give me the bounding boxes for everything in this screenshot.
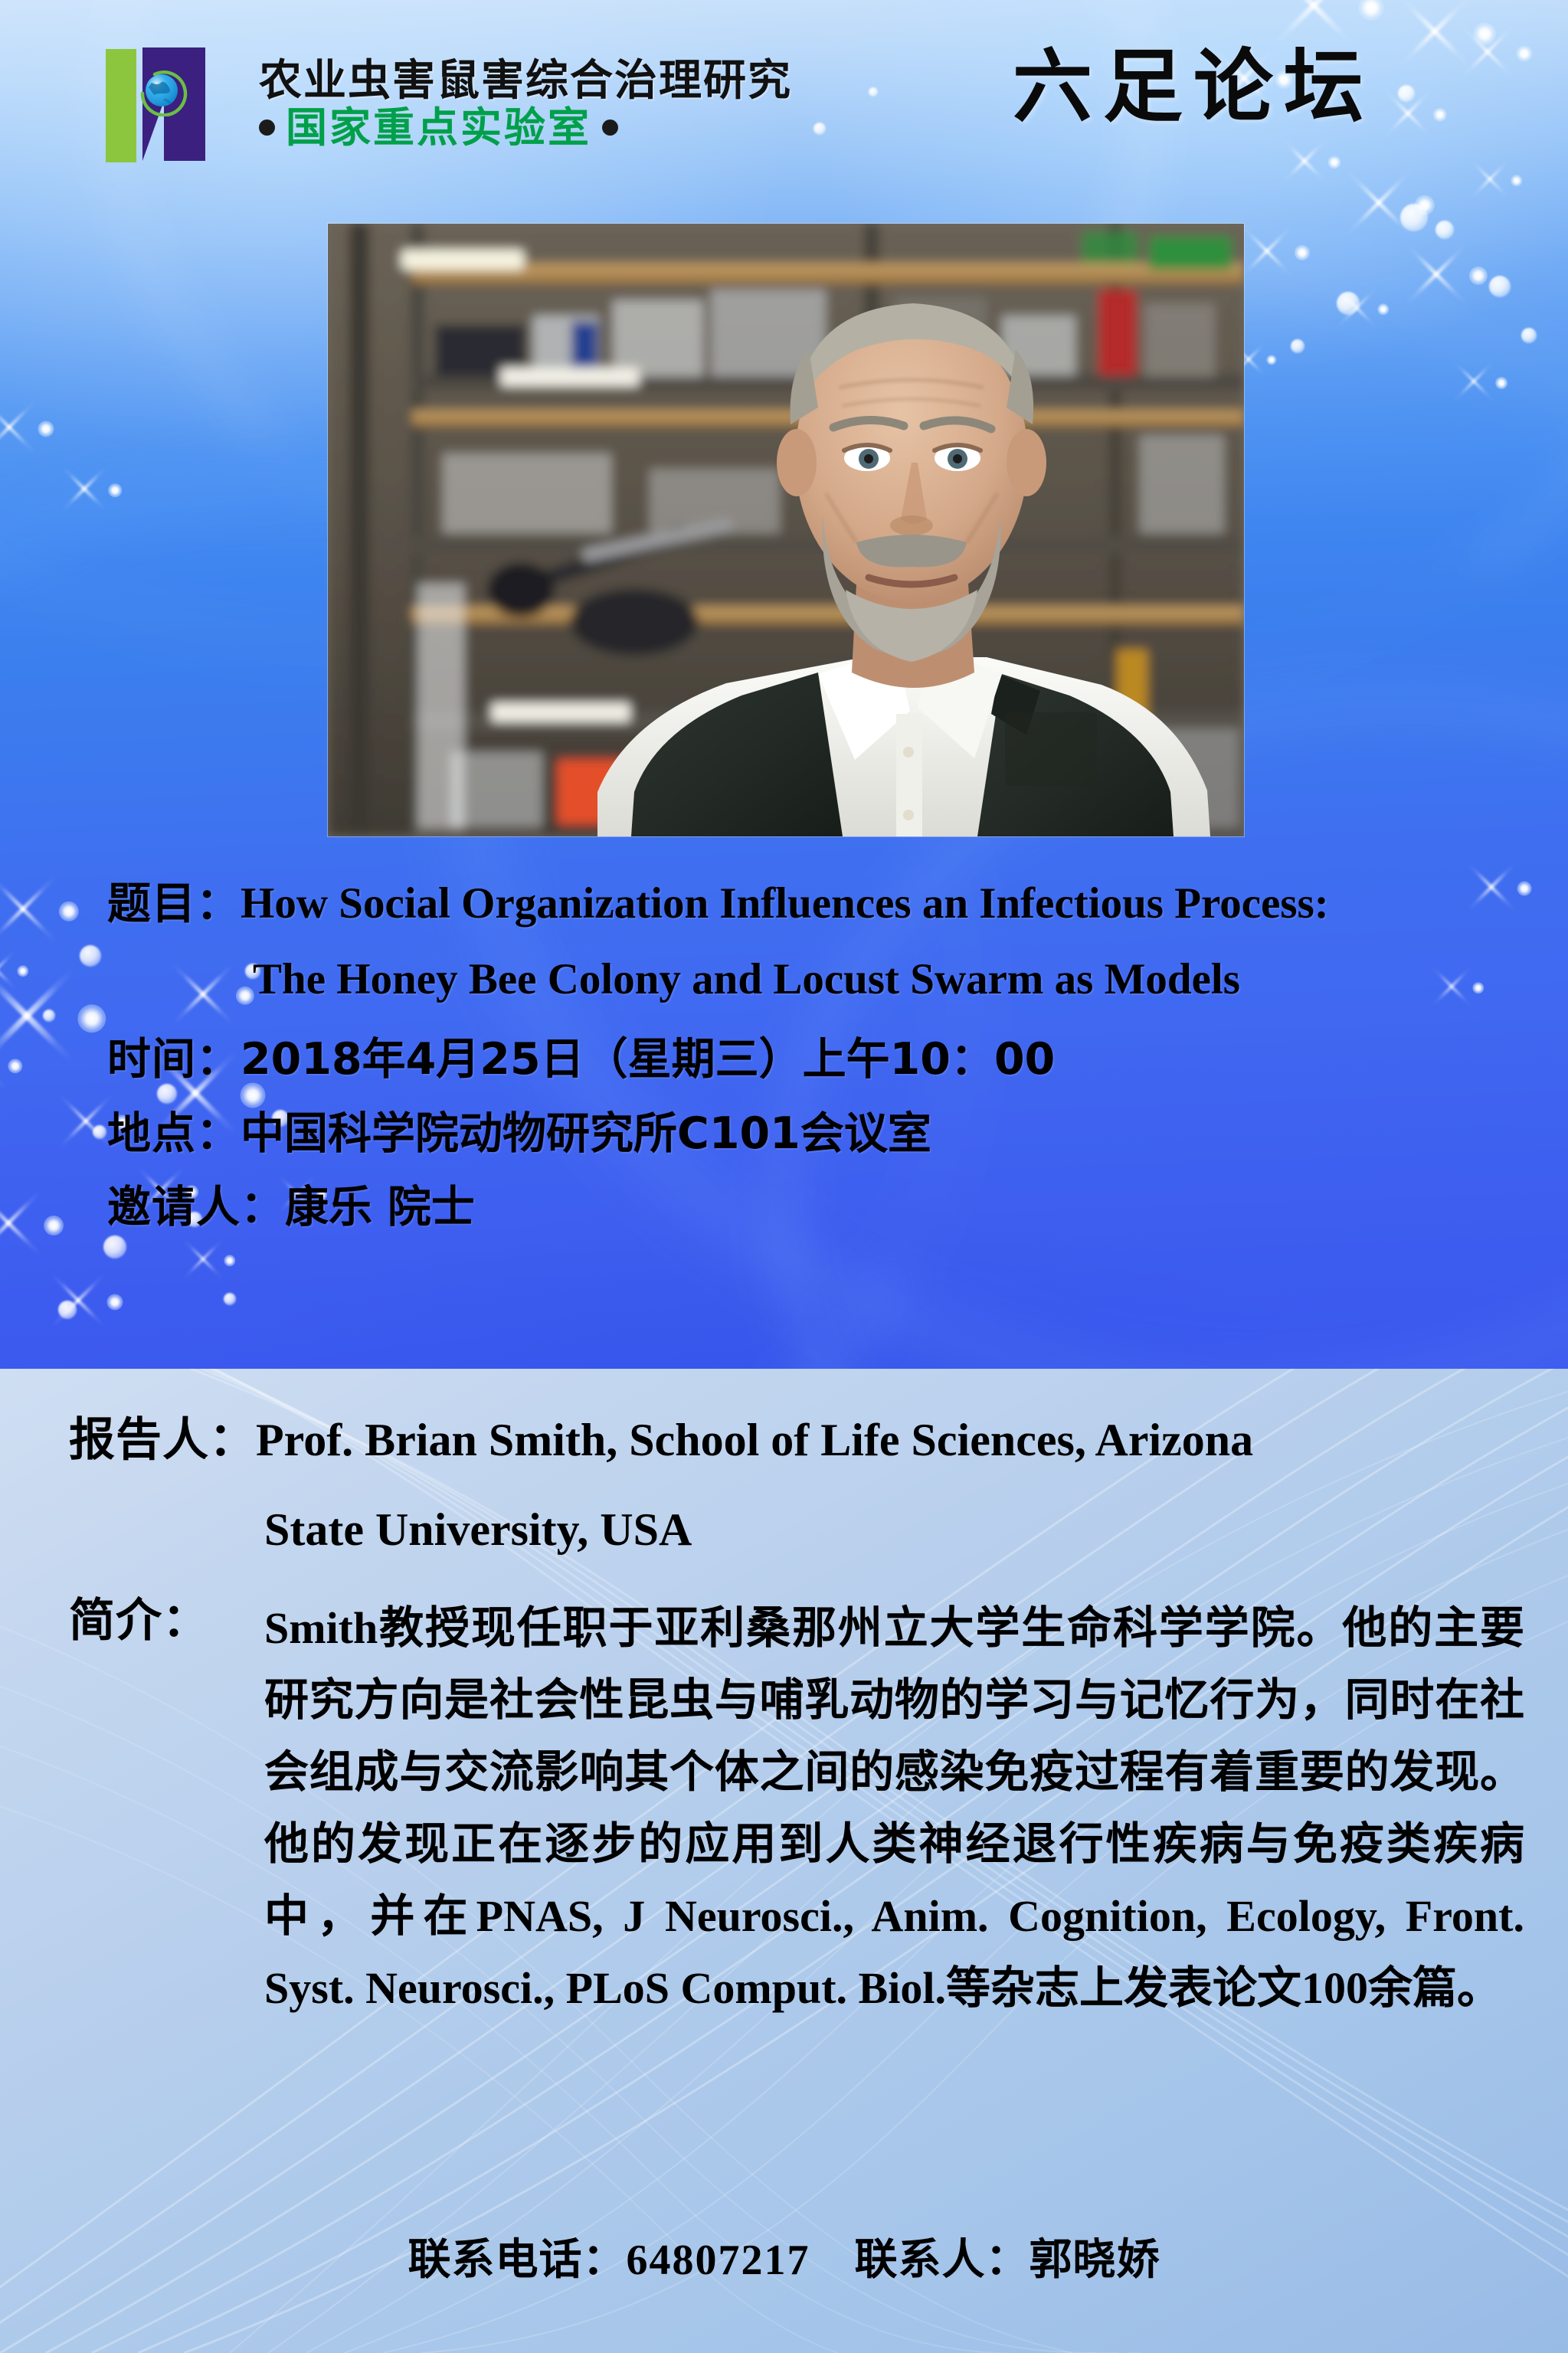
speaker-label: 报告人： <box>69 1415 256 1466</box>
seminar-title-line2: The Honey Bee Colony and Locust Swarm as… <box>0 954 1568 1004</box>
bokeh-dot-icon <box>224 1293 236 1305</box>
sparkle-star-icon <box>1474 355 1529 411</box>
bullet-dot-left-icon <box>259 119 275 136</box>
seminar-time-label: 时间： <box>107 1036 241 1082</box>
lab-name-line2-row: 国家重点实验室 <box>259 106 792 149</box>
poster-header: 农业虫害鼠害综合治理研究 国家重点实验室 六足论坛 <box>0 0 1568 191</box>
contact-phone-value: 64807217 <box>627 2237 810 2284</box>
speaker-name-line1: Prof. Brian Smith, School of Life Scienc… <box>256 1415 1253 1466</box>
sparkle-star-icon <box>1267 218 1337 288</box>
bokeh-dot-icon <box>1489 276 1511 297</box>
bio-block: 简介： Smith教授现任职于亚利桑那州立大学生命科学学院。他的主要研究方向是社… <box>69 1592 1524 2024</box>
sparkle-star-icon <box>9 392 83 466</box>
bokeh-dot-icon <box>1400 204 1428 231</box>
lab-name-line2: 国家重点实验室 <box>286 106 591 149</box>
contact-person-value: 郭晓娇 <box>1030 2235 1160 2285</box>
bokeh-dot-icon <box>1337 292 1360 315</box>
bullet-dot-right-icon <box>602 119 618 136</box>
seminar-place-label: 地点： <box>107 1111 241 1157</box>
contact-row: 联系电话：64807217联系人：郭晓娇 <box>0 2225 1568 2287</box>
poster-lower-light-background: 报告人： Prof. Brian Smith, School of Life S… <box>0 1369 1568 2353</box>
speaker-name-line2: State University, USA <box>264 1504 692 1556</box>
bokeh-dot-icon <box>1435 221 1454 239</box>
bio-label: 简介： <box>69 1592 264 1650</box>
bokeh-dot-icon <box>1521 328 1537 343</box>
lab-logo-text: 农业虫害鼠害综合治理研究 国家重点实验室 <box>259 58 792 149</box>
contact-phone-label: 联系电话： <box>408 2235 627 2285</box>
sparkle-star-icon <box>84 460 146 521</box>
sparkle-star-icon <box>1357 283 1410 336</box>
seminar-inviter-label: 邀请人： <box>107 1184 285 1230</box>
seminar-title-label: 题目： <box>107 881 241 927</box>
bokeh-dot-icon <box>1291 339 1304 353</box>
speaker-photo-image <box>328 224 1244 836</box>
seminar-time-value: 2018年4月25日（星期三）上午10：00 <box>241 1036 1055 1082</box>
sparkle-star-icon <box>78 1265 152 1339</box>
seminar-inviter-row: 邀请人： 康乐 院士 <box>0 1184 1568 1230</box>
seminar-poster: 农业虫害鼠害综合治理研究 国家重点实验室 六足论坛 <box>0 0 1568 2353</box>
bokeh-dot-icon <box>103 1235 126 1258</box>
globe-icon <box>138 66 188 116</box>
speaker-row: 报告人： Prof. Brian Smith, School of Life S… <box>69 1415 1253 1466</box>
seminar-place-row: 地点： 中国科学院动物研究所C101会议室 <box>0 1111 1568 1157</box>
sparkle-star-icon <box>203 1234 257 1288</box>
sparkle-star-icon <box>1249 337 1295 383</box>
lab-logo: 农业虫害鼠害综合治理研究 国家重点实验室 <box>98 44 792 163</box>
speaker-photo <box>328 224 1244 836</box>
lab-logo-mark-icon <box>98 44 244 163</box>
seminar-title-row: 题目： How Social Organization Influences a… <box>0 881 1568 927</box>
lab-name-line1: 农业虫害鼠害综合治理研究 <box>259 58 792 103</box>
forum-title: 六足论坛 <box>1013 21 1374 137</box>
seminar-time-row: 时间： 2018年4月25日（星期三）上午10：00 <box>0 1036 1568 1082</box>
seminar-place-value: 中国科学院动物研究所C101会议室 <box>241 1111 931 1157</box>
seminar-title-line1: How Social Organization Influences an In… <box>241 881 1329 927</box>
bio-text: Smith教授现任职于亚利桑那州立大学生命科学学院。他的主要研究方向是社会性昆虫… <box>264 1592 1524 2024</box>
seminar-info-block: 题目： How Social Organization Influences a… <box>0 881 1568 1231</box>
contact-person-label: 联系人： <box>855 2235 1030 2285</box>
bokeh-dot-icon <box>58 1301 77 1319</box>
seminar-inviter-value: 康乐 院士 <box>285 1184 475 1230</box>
sparkle-star-icon <box>1436 234 1521 318</box>
